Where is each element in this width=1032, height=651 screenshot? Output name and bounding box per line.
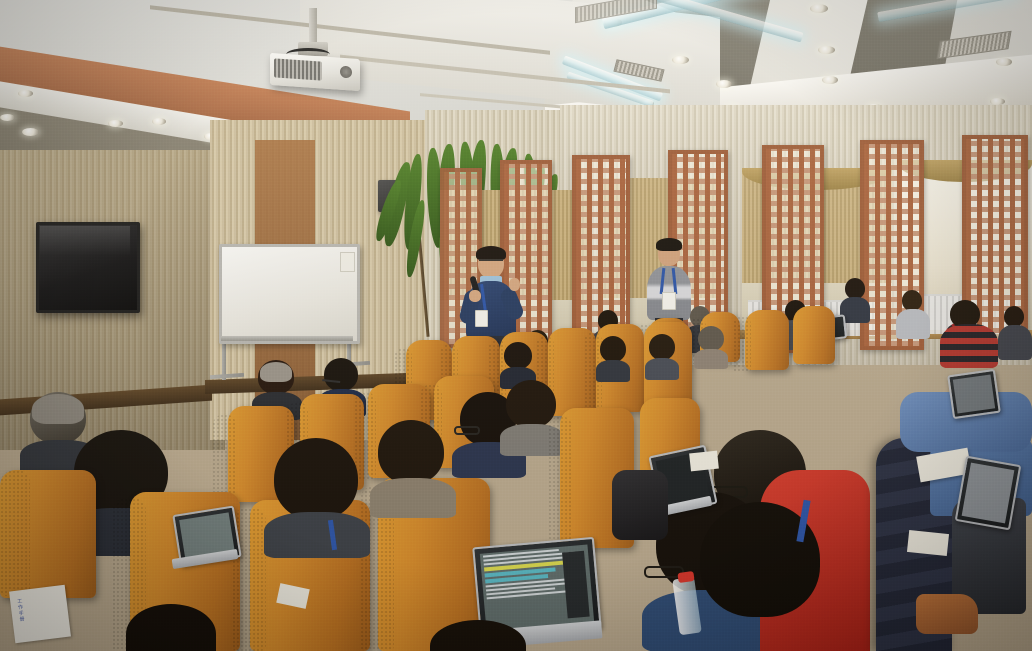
audience-head (845, 278, 865, 299)
auditorium-seat-cushion (548, 416, 572, 548)
audience-torso (645, 358, 679, 380)
audience-person (596, 336, 630, 380)
audience-torso-plaid (940, 324, 998, 368)
downlight-icon (152, 118, 166, 125)
audience-torso (264, 512, 370, 558)
audience-torso (694, 349, 728, 369)
program-booklet: 工作手册 (9, 585, 71, 643)
downlight-icon (18, 90, 33, 97)
audience-person-plaid (940, 300, 998, 366)
tv-screen-reflection (40, 226, 130, 256)
audience-head (504, 342, 532, 369)
auditorium-seat-cushion (0, 470, 30, 596)
document-view (480, 544, 594, 631)
audience-torso (596, 360, 630, 382)
audience-head (378, 420, 444, 484)
downlight-icon (0, 114, 15, 121)
audience-glasses-icon (322, 379, 341, 387)
whiteboard-tray (221, 336, 353, 341)
speaker-glasses-icon (479, 259, 503, 265)
audience-torso (370, 478, 456, 518)
audience-torso (896, 309, 930, 339)
projector-mount-pole (309, 8, 317, 46)
audience-head (649, 334, 675, 360)
laptop-screen (955, 456, 1022, 531)
downlight-icon (716, 80, 732, 88)
auditorium-seat-cushion (733, 316, 751, 372)
audience-head (506, 380, 556, 428)
laptop-screen (947, 369, 1001, 419)
audience-person (370, 420, 456, 516)
audience-hair-gray (32, 394, 84, 424)
audience-head (698, 326, 724, 351)
audience-person (694, 326, 728, 368)
conference-room-photo: 工作手册 (0, 0, 1032, 651)
downlight-icon (818, 46, 835, 54)
booklet-text: 工作手册 (16, 598, 26, 623)
projector-lens (340, 66, 352, 79)
audience-head (600, 336, 626, 362)
downlight-icon (990, 98, 1005, 105)
speaker-badge (475, 310, 488, 327)
audience-person (998, 306, 1032, 360)
speaker-hand-mic (469, 290, 481, 302)
auditorium-seat (793, 306, 835, 364)
standing-badge (662, 292, 676, 310)
downlight-icon (822, 76, 838, 84)
projector-vent-grille (274, 58, 322, 80)
whiteboard-note (340, 252, 355, 272)
audience-head (902, 290, 922, 311)
audience-torso (998, 325, 1032, 360)
auditorium-seat (745, 310, 789, 370)
backpack (612, 470, 668, 540)
whiteboard (219, 244, 360, 344)
downlight-icon (996, 58, 1012, 66)
audience-person (264, 438, 370, 556)
standing-hair (656, 238, 682, 251)
paper-sheet (689, 451, 719, 472)
audience-head (1004, 306, 1024, 327)
downlight-icon (22, 128, 39, 136)
downlight-icon (810, 4, 828, 13)
audience-head (324, 358, 358, 391)
audience-hair-gray (260, 362, 292, 382)
audience-glasses-icon (454, 426, 480, 435)
audience-person (645, 334, 679, 378)
notebook (907, 530, 949, 556)
speaker-hand-gesture (509, 278, 520, 291)
leather-boot (916, 594, 978, 634)
downlight-icon (108, 120, 123, 127)
audience-person (896, 290, 930, 338)
audience-head (274, 438, 358, 520)
downlight-icon (672, 56, 689, 64)
